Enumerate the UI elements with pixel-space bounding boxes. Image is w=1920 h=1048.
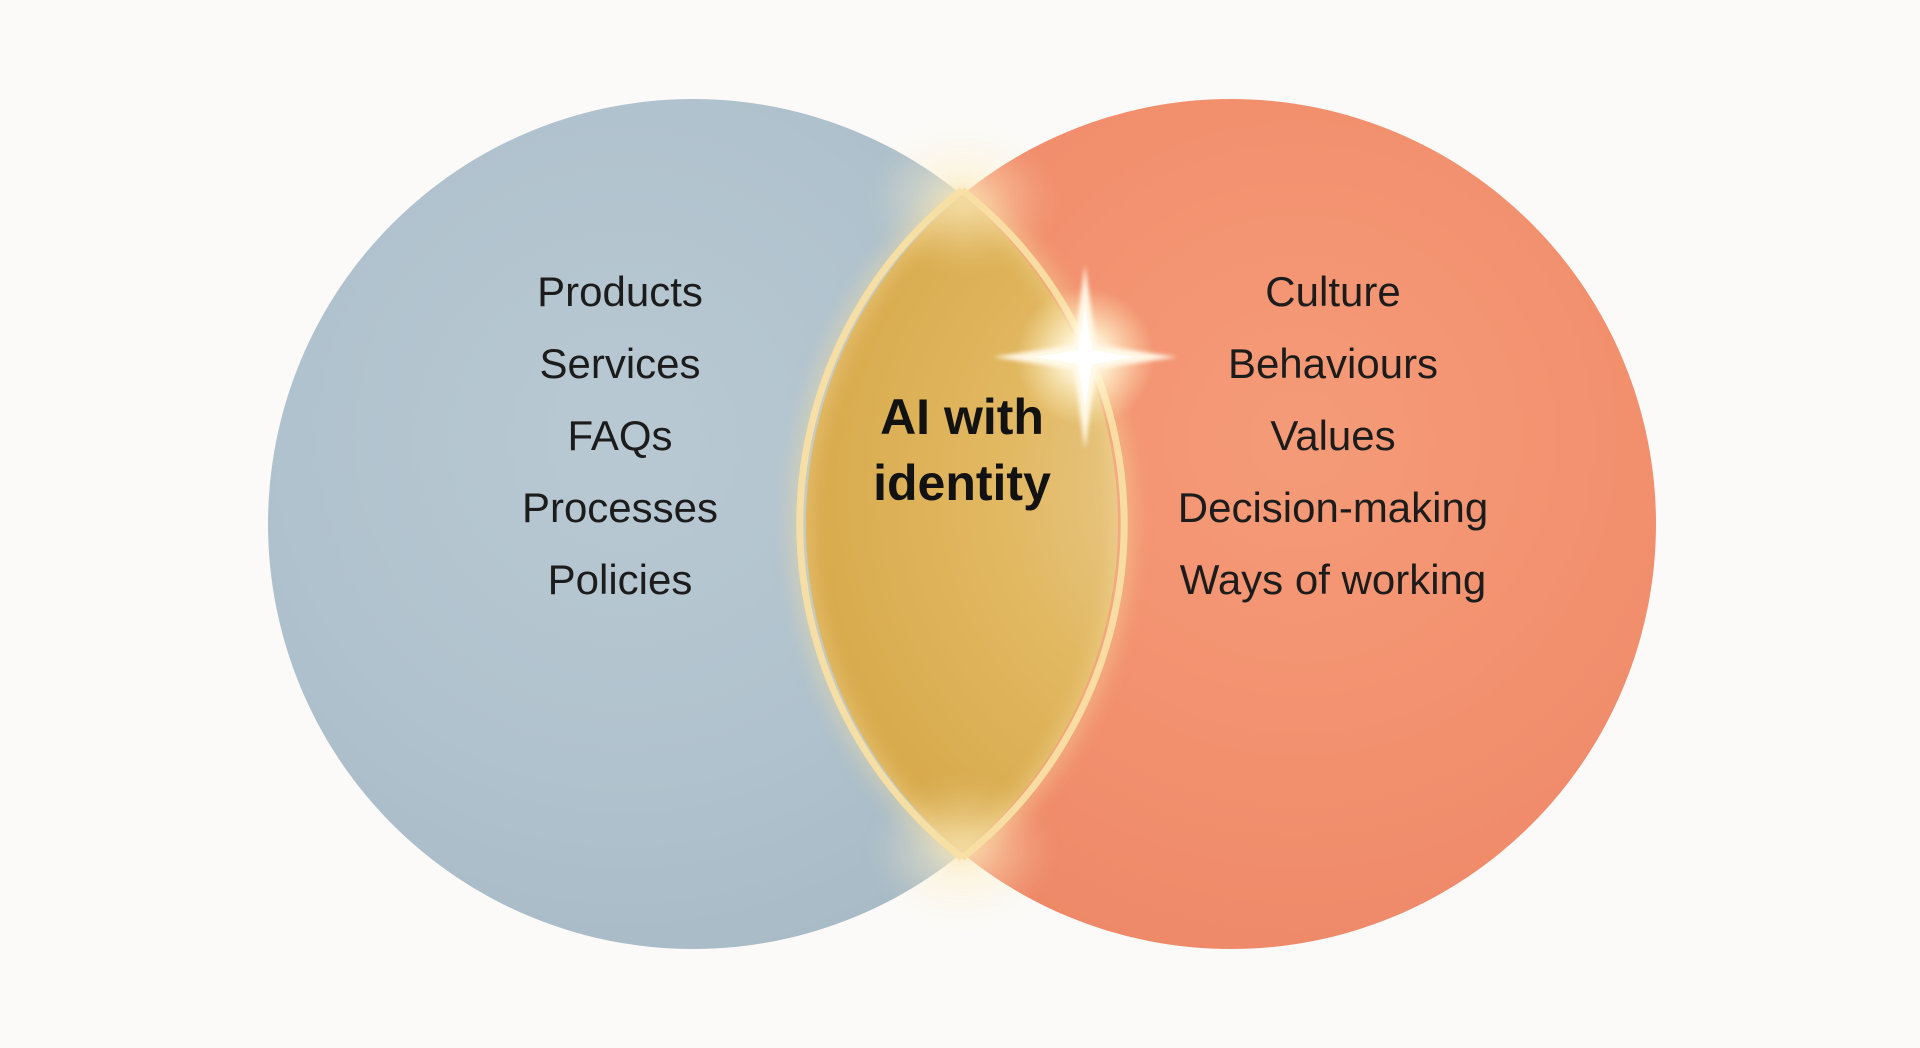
left-item-1: Services: [539, 340, 700, 387]
right-item-0: Culture: [1265, 268, 1400, 315]
intersection-label-line-0: AI with: [880, 389, 1044, 445]
intersection-label-line-1: identity: [873, 455, 1051, 511]
right-item-4: Ways of working: [1180, 556, 1487, 603]
right-item-2: Values: [1270, 412, 1395, 459]
venn-diagram-svg: Products Services FAQs Processes Policie…: [0, 0, 1920, 1048]
left-item-4: Policies: [548, 556, 693, 603]
left-item-3: Processes: [522, 484, 718, 531]
venn-diagram-canvas: Products Services FAQs Processes Policie…: [0, 0, 1920, 1048]
left-item-0: Products: [537, 268, 703, 315]
left-item-2: FAQs: [567, 412, 672, 459]
right-item-1: Behaviours: [1228, 340, 1438, 387]
right-item-3: Decision-making: [1178, 484, 1488, 531]
